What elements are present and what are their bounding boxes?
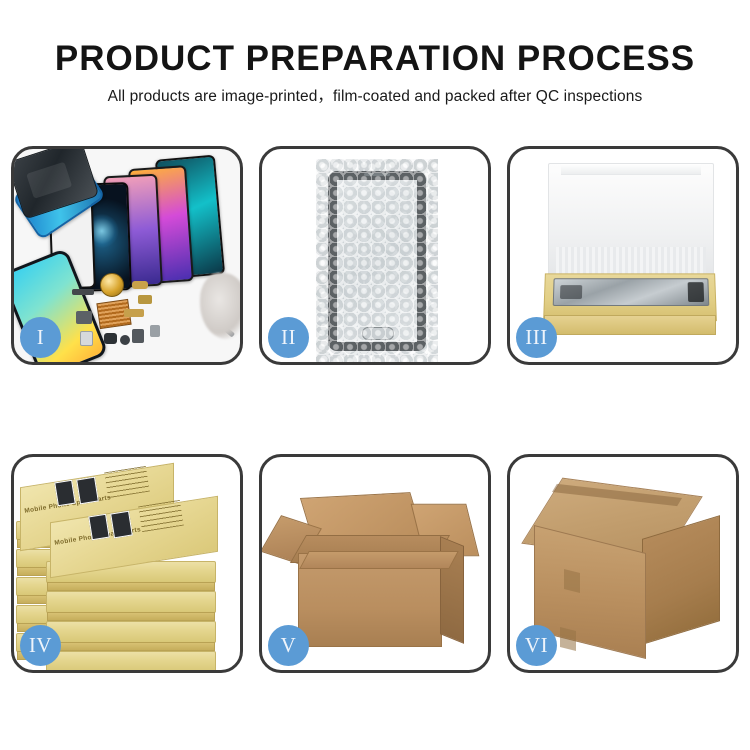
step-badge-5: V (268, 625, 309, 666)
wrapped-screen-in-box (553, 278, 710, 306)
step-panel-6[interactable]: VI (507, 454, 739, 673)
box-lcd-image (110, 511, 133, 539)
gold-coil-part (100, 273, 124, 297)
step-badge-6: VI (516, 625, 557, 666)
spare-part (76, 311, 92, 324)
box-lcd-image (54, 480, 76, 507)
step-panel-1[interactable]: I (11, 146, 243, 365)
retail-box (46, 621, 216, 643)
page-subtitle: All products are image-printed，film-coat… (0, 87, 750, 107)
spare-part (80, 331, 93, 346)
carton-side-face (642, 515, 720, 645)
header: PRODUCT PREPARATION PROCESS All products… (0, 0, 750, 107)
bubble-film-sheet (316, 159, 438, 362)
spare-part (132, 329, 144, 343)
hand-blur (200, 273, 240, 339)
box-front-face (544, 315, 716, 335)
phone-glass-screen (328, 171, 426, 351)
product-preparation-infographic: PRODUCT PREPARATION PROCESS All products… (0, 0, 750, 750)
step-badge-1: I (20, 317, 61, 358)
steps-grid: I II III (11, 146, 739, 673)
spare-part (124, 309, 144, 317)
step-badge-2: II (268, 317, 309, 358)
step-panel-2[interactable]: II (259, 146, 491, 365)
spare-part (120, 335, 130, 345)
box-lcd-image (88, 514, 110, 541)
carton-handle-tab (560, 627, 576, 651)
spare-part (138, 295, 152, 304)
retail-box (46, 591, 216, 613)
step-badge-4: IV (20, 625, 61, 666)
step-panel-5[interactable]: V (259, 454, 491, 673)
carton-flap-front (299, 551, 459, 569)
spare-part (150, 325, 160, 337)
spare-part (132, 281, 148, 289)
spare-part (104, 333, 117, 344)
carton-handle-tab (564, 569, 580, 593)
box-kraft-base (543, 273, 717, 321)
step-panel-3[interactable]: III (507, 146, 739, 365)
page-title: PRODUCT PREPARATION PROCESS (0, 38, 750, 80)
box-lcd-image (76, 477, 99, 505)
step-panel-4[interactable]: Mobile Phone Spare Parts Mobile Phone Sp… (11, 454, 243, 673)
spare-part (72, 289, 94, 295)
retail-box (46, 651, 216, 670)
step-badge-3: III (516, 317, 557, 358)
home-button (362, 327, 394, 340)
